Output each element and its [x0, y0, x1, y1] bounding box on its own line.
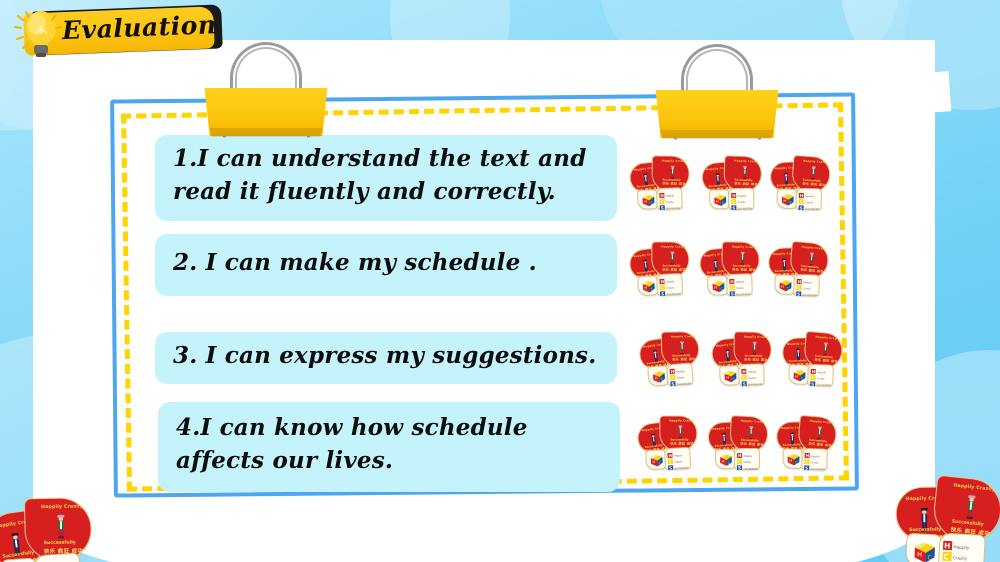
badge-top-label: Happily Crazily — [803, 160, 828, 165]
statement-text-4: 4.I can know how schedule affects our li… — [176, 412, 602, 477]
svg-text:C: C — [927, 554, 932, 561]
badge-legend-card: Happily H Crazily C Successfully S — [666, 363, 693, 387]
sticker-badge-row3-item3[interactable]: Happily Crazily Successfully 快乐 疯狂 成功 Ha… — [781, 327, 845, 397]
badge-cube-card: H C — [645, 449, 666, 470]
badge-legend-letter: S — [738, 466, 741, 471]
badge-legend-letter: H — [944, 541, 951, 550]
svg-text:H: H — [789, 458, 792, 463]
title-banner: Evaluation — [10, 4, 240, 62]
badge-top-label: Happily Crazily — [671, 335, 696, 338]
badge-legend-label: Happily — [811, 455, 820, 458]
badge-cube-icon: H C — [641, 193, 655, 207]
badge-top-label: Happily Crazily — [741, 420, 766, 424]
binder-clip-right[interactable] — [653, 44, 781, 144]
badge-legend-label: Happily — [817, 371, 826, 374]
sticker-badge-row3-item1[interactable]: Happily Crazily Successfully 快乐 疯狂 成功 Ha… — [638, 326, 705, 398]
badge-legend-card: Happily H Crazily C Successfully S — [796, 188, 822, 210]
badge-legend-letter: S — [661, 291, 664, 296]
badge-legend-letter: S — [661, 205, 664, 210]
badge-cube-card: H C — [719, 365, 740, 386]
badge-petal-right: Happily Crazily Successfully 快乐 疯狂 成功 — [733, 331, 772, 368]
badge-top-label: Happily Crazily — [744, 336, 769, 339]
badge-cn-label: 快乐 疯狂 成功 — [740, 442, 763, 447]
badge-legend-card: Happily H Crazily C Successfully S — [738, 363, 765, 386]
badge-figure-icon — [751, 342, 757, 355]
badge-legend-letter: C — [943, 552, 949, 561]
badge-legend-label: Happily — [666, 280, 675, 283]
badge-legend-label: Happily — [953, 544, 970, 550]
sticker-badge-row2-item3[interactable]: Happily Crazily Successfully 快乐 疯狂 成功 Ha… — [767, 237, 831, 307]
badge-legend-label: Crazily — [666, 286, 675, 289]
badge-legend-label: Successfully — [667, 292, 682, 296]
badge-legend-label: Crazily — [666, 201, 675, 204]
badge-top-label: Happily Crazily — [734, 160, 759, 164]
badge-cube-card: H C — [788, 364, 809, 385]
badge-legend-letter: S — [800, 205, 803, 210]
badge-legend-label: Crazily — [817, 377, 826, 380]
badge-cube-icon: H C — [781, 193, 795, 207]
badge-legend-label: Happily — [743, 455, 752, 458]
badge-top-label: Happily Crazily — [661, 245, 686, 248]
badge-cube-card: H C — [707, 275, 728, 296]
statement-box-1[interactable]: 1.I can understand the text and read it … — [155, 135, 617, 221]
badge-legend-label: Crazily — [674, 460, 683, 463]
sticker-badge-row1-item3[interactable]: Happily Crazily Successfully 快乐 疯狂 成功 Ha… — [769, 151, 832, 220]
badge-cn-label: 快乐 疯狂 成功 — [808, 442, 832, 448]
badge-top-label: Happily Crazily — [953, 483, 995, 492]
badge-cn-label: 快乐 疯狂 成功 — [802, 182, 826, 188]
badge-legend-card: Happily H Crazily C Successfully S — [726, 273, 753, 296]
badge-legend-label: Happily — [674, 454, 683, 457]
svg-text:H: H — [655, 375, 658, 380]
badge-figure-icon — [964, 495, 977, 520]
badge-legend: Happily H Crazily C Successfully S — [728, 275, 753, 296]
badge-legend-label: Successfully — [811, 467, 826, 470]
badge-legend-card: Happily H Crazily C Successfully S — [656, 273, 683, 296]
badge-legend-card: Happily H Crazily C Successfully S — [807, 364, 834, 387]
badge-legend-letter: C — [811, 375, 814, 380]
badge-figure-icon — [55, 515, 66, 539]
svg-text:H: H — [783, 198, 786, 203]
badge-legend-label: Crazily — [803, 287, 812, 290]
badge-top-label: Happily Crazily — [41, 504, 83, 510]
badge-cn-label: 快乐 疯狂 成功 — [800, 268, 824, 274]
badge-cube-icon: H C — [792, 368, 806, 382]
badge-legend-label: Successfully — [817, 383, 832, 386]
badge-cn-label: 快乐 疯狂 成功 — [744, 358, 767, 362]
sticker-badge-row4-item2[interactable]: Happily Crazily Successfully 快乐 疯狂 成功 Ha… — [708, 412, 770, 480]
badge-cube-icon: H C — [912, 540, 937, 562]
badge-legend-label: Crazily — [738, 201, 746, 204]
svg-text:H: H — [722, 458, 725, 463]
svg-text:H: H — [644, 199, 647, 204]
badge-legend-label: Crazily — [736, 287, 745, 290]
lightbulb-icon — [12, 6, 70, 62]
badge-legend-letter: C — [738, 459, 741, 464]
badge-cube-icon: H C — [711, 279, 725, 293]
badge-cn-label: 快乐 疯狂 成功 — [734, 182, 757, 187]
badge-legend-letter: S — [743, 381, 746, 386]
badge-legend-card: Happily H Crazily C Successfully S — [728, 188, 754, 210]
sticker-badge-row3-item2[interactable]: Happily Crazily Successfully 快乐 疯狂 成功 Ha… — [711, 327, 775, 397]
badge-figure-icon — [669, 166, 675, 179]
badge-legend: Happily H Crazily C Successfully S — [798, 190, 822, 210]
corner-badge-bottom-right[interactable]: Happily Crazily Successfully 快乐 疯狂 成功 Ha… — [892, 467, 1000, 562]
badge-legend-letter: C — [800, 199, 803, 204]
badge-legend: Happily H Crazily C Successfully S — [658, 275, 683, 296]
badge-legend-label: Happily — [736, 280, 745, 283]
badge-legend: Happily H Crazily C Successfully S — [941, 536, 985, 562]
badge-legend-label: Successfully — [677, 382, 692, 386]
sticker-badge-row1-item2[interactable]: Happily Crazily Successfully 快乐 疯狂 成功 Ha… — [701, 151, 764, 220]
badge-legend-letter: S — [731, 291, 734, 296]
badge-top-label: Happily Crazily — [801, 246, 826, 251]
badge-cube-icon: H C — [786, 452, 800, 466]
badge-legend-letter: S — [811, 381, 814, 386]
badge-legend: Happily H Crazily C Successfully S — [795, 276, 820, 297]
badge-legend-letter: C — [742, 375, 745, 380]
clip-body-shadow — [653, 130, 781, 139]
badge-legend-letter: S — [732, 205, 735, 210]
badge-cube-card: H C — [637, 189, 658, 210]
badge-top-label: Happily Crazily — [732, 246, 757, 249]
badge-cube-icon: H C — [652, 369, 667, 384]
badge-cube-card: H C — [774, 274, 795, 295]
statement-box-3[interactable]: 3. I can express my suggestions. — [155, 332, 617, 384]
badge-figure-icon — [742, 166, 748, 179]
sticker-badge-row4-item1[interactable]: Happily Crazily Successfully 快乐 疯狂 成功 Ha… — [636, 410, 701, 481]
badge-cn-label: 快乐 疯狂 成功 — [732, 268, 755, 272]
badge-top-label: Happily Crazily — [809, 420, 834, 425]
badge-legend-label: Successfully — [738, 207, 753, 210]
badge-figure-icon — [748, 426, 755, 439]
badge-legend-letter: S — [797, 291, 800, 296]
badge-legend-letter: C — [732, 199, 735, 204]
badge-legend-card: Happily H Crazily C Successfully S — [656, 187, 683, 210]
badge-legend-label: Successfully — [666, 207, 681, 210]
corner-badge-bottom-left[interactable]: Happily Crazily Successfully 快乐 疯狂 成功 Ha… — [0, 488, 100, 562]
badge-legend-letter: C — [661, 285, 664, 290]
slide-canvas: 1.I can understand the text and read it … — [0, 0, 1000, 562]
badge-figure-icon — [669, 251, 675, 264]
badge-legend-label: Happily — [738, 195, 747, 198]
badge-legend-letter: C — [660, 199, 663, 204]
badge-legend: Happily H Crazily C Successfully S — [809, 366, 834, 387]
badge-cube-icon: H C — [641, 279, 656, 294]
svg-text:H: H — [644, 285, 647, 290]
badge-legend: Happily H Crazily C Successfully S — [37, 555, 81, 562]
badge-cn-label: 快乐 疯狂 成功 — [670, 441, 693, 445]
badge-legend-letter: C — [671, 375, 674, 380]
badge-legend-letter: C — [797, 285, 800, 290]
svg-text:H: H — [726, 375, 729, 380]
badge-cube-card: H C — [647, 365, 668, 386]
statement-box-2[interactable]: 2. I can make my schedule . — [155, 234, 617, 296]
statement-text-3: 3. I can express my suggestions. — [173, 340, 596, 373]
badge-top-label: Happily Crazily — [815, 336, 840, 341]
svg-text:H: H — [716, 199, 719, 204]
badge-petal-right: Happily Crazily Successfully 快乐 疯狂 成功 — [721, 241, 760, 278]
badge-legend-label: Happily — [676, 370, 686, 374]
badge-legend: Happily H Crazily C Successfully S — [668, 365, 693, 387]
badge-legend-card: Happily H Crazily C Successfully S — [664, 447, 691, 470]
badge-cube-icon: H C — [713, 193, 727, 207]
badge-top-label: Happily Crazily — [669, 419, 694, 422]
badge-cube-card: H C — [782, 448, 803, 469]
badge-petal-right: Happily Crazily Successfully 快乐 疯狂 成功 — [651, 155, 690, 192]
badge-legend-card: Happily H Crazily C Successfully S — [793, 274, 820, 297]
badge-legend-letter: S — [805, 465, 808, 470]
badge-figure-icon — [739, 252, 745, 265]
paper-corner-flap — [839, 71, 952, 119]
badge-figure-icon — [816, 426, 823, 439]
badge-bottom-label: Successfully — [44, 541, 76, 547]
statement-text-1: 1.I can understand the text and read it … — [173, 143, 599, 208]
badge-figure-icon — [679, 341, 685, 354]
badge-legend-label: Happily — [666, 194, 675, 197]
badge-legend: Happily H Crazily C Successfully S — [736, 450, 760, 470]
clip-body-shadow — [202, 128, 330, 137]
badge-legend-label: Successfully — [675, 466, 690, 470]
badge-legend-letter: S — [671, 381, 674, 386]
badge-cube-icon: H C — [719, 453, 733, 467]
svg-text:H: H — [795, 374, 798, 379]
badge-cube-icon: H C — [649, 453, 664, 468]
badge-legend-label: Successfully — [748, 383, 763, 386]
badge-legend-label: Successfully — [805, 207, 820, 210]
badge-cube-icon: H C — [723, 369, 737, 383]
svg-text:H: H — [714, 285, 717, 290]
badge-legend-label: Happily — [805, 195, 814, 198]
badge-legend-label: Successfully — [736, 293, 751, 296]
badge-legend-label: Happily — [803, 281, 812, 284]
badge-cn-label: 快乐 疯狂 成功 — [662, 267, 685, 271]
badge-cube-card: H C — [715, 449, 735, 469]
badge-legend-label: Crazily — [811, 461, 820, 464]
badge-legend-card: Happily H Crazily C Successfully S — [734, 448, 760, 470]
svg-text:H: H — [652, 459, 655, 464]
sticker-badge-row2-item2[interactable]: Happily Crazily Successfully 快乐 疯狂 成功 Ha… — [699, 237, 763, 307]
badge-petal-right: Happily Crazily Successfully 快乐 疯狂 成功 — [651, 241, 689, 277]
badge-cn-label: 快乐 疯狂 成功 — [672, 357, 695, 361]
badge-legend: Happily H Crazily C Successfully S — [666, 449, 691, 470]
badge-legend: Happily H Crazily C Successfully S — [658, 189, 683, 210]
sticker-badge-row4-item3[interactable]: Happily Crazily Successfully 快乐 疯狂 成功 Ha… — [775, 411, 839, 481]
sticker-badge-row1-item1[interactable]: Happily Crazily Successfully 快乐 疯狂 成功 Ha… — [629, 151, 693, 221]
badge-legend-letter: C — [805, 459, 808, 464]
badge-legend: Happily H Crazily C Successfully S — [740, 365, 765, 386]
statement-text-2: 2. I can make my schedule . — [173, 247, 537, 280]
badge-legend-letter: H — [738, 453, 742, 458]
badge-petal-right: Happily Crazily Successfully 快乐 疯狂 成功 — [24, 497, 92, 561]
badge-cn-label: 快乐 疯狂 成功 — [814, 358, 838, 364]
badge-top-label: Happily Crazily — [662, 160, 687, 163]
badge-legend-letter: S — [669, 465, 672, 470]
badge-cube-icon: H C — [778, 278, 792, 292]
badge-petal-right: Happily Crazily Successfully 快乐 疯狂 成功 — [659, 415, 697, 451]
badge-petal-right: Happily Crazily Successfully 快乐 疯狂 成功 — [661, 331, 700, 368]
badge-legend-letter: C — [730, 285, 733, 290]
badge-cube-card: H C — [709, 189, 729, 209]
badge-legend-label: Crazily — [676, 376, 685, 380]
badge-legend-card: Happily H Crazily C Successfully S — [938, 533, 986, 562]
badge-legend-label: Crazily — [748, 377, 757, 380]
badge-legend: Happily H Crazily C Successfully S — [730, 190, 754, 210]
badge-cube-card: H C — [777, 189, 797, 209]
badge-legend-label: Successfully — [803, 293, 818, 296]
badge-figure-icon — [677, 425, 683, 438]
svg-text:H: H — [781, 284, 784, 289]
badge-legend-label: Crazily — [953, 555, 968, 561]
svg-text:H: H — [917, 550, 922, 558]
badge-legend-label: Successfully — [743, 467, 758, 470]
badge-figure-icon — [822, 342, 829, 355]
page-title: Evaluation — [62, 10, 223, 45]
badge-cn-label: 快乐 疯狂 成功 — [662, 182, 685, 186]
badge-legend-label: Crazily — [743, 461, 751, 464]
badge-legend-label: Crazily — [805, 201, 813, 204]
badge-cube-card: H C — [905, 533, 942, 562]
badge-legend-label: Happily — [748, 370, 757, 373]
badge-figure-icon — [810, 166, 817, 179]
sticker-badge-row2-item1[interactable]: Happily Crazily Successfully 快乐 疯狂 成功 Ha… — [628, 236, 693, 307]
badge-legend: Happily H Crazily C Successfully S — [803, 450, 828, 471]
badge-legend-letter: C — [669, 459, 672, 464]
badge-cube-card: H C — [637, 275, 658, 296]
statement-box-4[interactable]: 4.I can know how schedule affects our li… — [158, 402, 620, 492]
badge-legend-card: Happily H Crazily C Successfully S — [801, 448, 828, 471]
badge-figure-icon — [808, 252, 815, 265]
